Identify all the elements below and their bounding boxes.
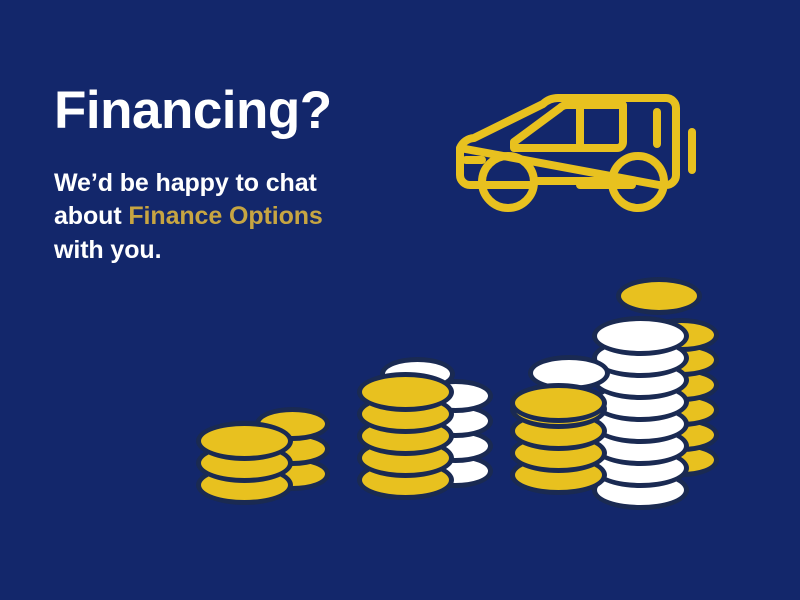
coin xyxy=(644,318,719,352)
coin xyxy=(196,443,293,483)
coin xyxy=(592,404,689,444)
coin xyxy=(528,355,610,391)
subtitle-text: We’d be happy to chat about Finance Opti… xyxy=(54,139,359,268)
coin xyxy=(510,433,607,473)
coin xyxy=(510,455,607,495)
subtitle-part-two: with you. xyxy=(54,236,161,264)
page-title: Financing? xyxy=(54,83,414,139)
coin xyxy=(357,416,454,456)
coin xyxy=(418,404,493,438)
slide-canvas: Financing? We’d be happy to chat about F… xyxy=(0,0,800,600)
suv-car-icon xyxy=(452,80,717,215)
coin xyxy=(592,338,689,378)
coin xyxy=(418,429,493,463)
coin xyxy=(510,383,607,423)
coin xyxy=(357,438,454,478)
coin xyxy=(255,407,330,441)
coin xyxy=(255,432,330,466)
coin xyxy=(592,360,689,400)
coin xyxy=(357,372,454,412)
coin xyxy=(592,470,689,510)
coin xyxy=(644,418,719,452)
coin xyxy=(592,426,689,466)
coin xyxy=(592,382,689,422)
finance-options-highlight: Finance Options xyxy=(128,202,322,230)
coin xyxy=(255,457,330,491)
coin xyxy=(357,460,454,500)
coin xyxy=(644,443,719,477)
coin xyxy=(644,343,719,377)
coin xyxy=(644,368,719,402)
coin xyxy=(196,421,293,461)
headline-block: Financing? We’d be happy to chat about F… xyxy=(54,83,414,267)
coin xyxy=(510,411,607,451)
coin xyxy=(357,394,454,434)
coin xyxy=(380,357,455,391)
coin xyxy=(644,393,719,427)
coin xyxy=(592,448,689,488)
coin xyxy=(592,316,689,356)
coin xyxy=(616,277,702,315)
coin xyxy=(196,465,293,505)
coin xyxy=(510,389,607,429)
coin xyxy=(418,379,493,413)
coin xyxy=(418,454,493,488)
